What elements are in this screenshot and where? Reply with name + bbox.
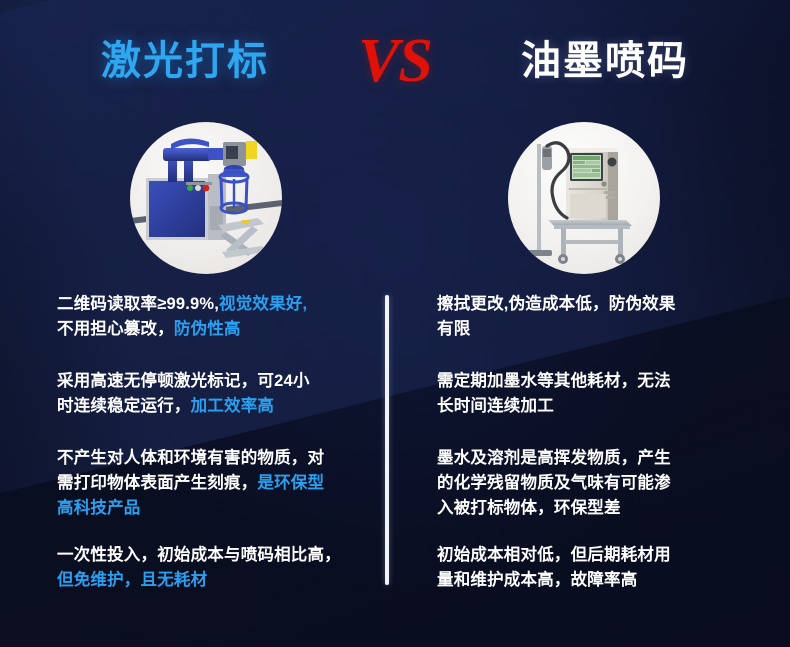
- feature-text-highlight: 视觉效果好,: [219, 295, 307, 313]
- feature-line: 不用担心篡改，防伪性高: [57, 317, 357, 342]
- inkjet-coding-machine-illustration: [508, 122, 660, 274]
- laser-marking-feature-list: 二维码读取率≥99.9%,视觉效果好, 不用担心篡改，防伪性高 采用高速无停顿激…: [57, 292, 357, 619]
- list-item: 初始成本相对低，但后期耗材用 量和维护成本高，故障率高: [437, 543, 737, 593]
- feature-text-plain: 不用担心篡改，: [57, 320, 174, 338]
- inkjet-coding-machine-photo: [508, 122, 660, 274]
- comparison-poster: 激光打标 VS 油墨喷码: [0, 0, 790, 647]
- list-item: 二维码读取率≥99.9%,视觉效果好, 不用担心篡改，防伪性高: [57, 292, 357, 342]
- feature-line: 采用高速无停顿激光标记，可24小: [57, 369, 357, 394]
- laser-marking-machine-illustration: [130, 122, 282, 274]
- left-title: 激光打标: [50, 41, 320, 81]
- inkjet-coding-feature-list: 擦拭更改,伪造成本低，防伪效果 有限 需定期加墨水等其他耗材，无法 长时间连续加…: [437, 292, 737, 619]
- laser-marking-machine-photo: [130, 122, 282, 274]
- feature-line: 需打印物体表面产生刻痕，是环保型: [57, 471, 357, 496]
- feature-text-plain: 一次性投入，初始成本与喷码相比高，: [57, 546, 341, 564]
- feature-text-highlight: 是环保型: [257, 474, 324, 492]
- feature-line: 二维码读取率≥99.9%,视觉效果好,: [57, 292, 357, 317]
- feature-line: 初始成本相对低，但后期耗材用: [437, 543, 737, 568]
- feature-text-plain: 时连续稳定运行，: [57, 397, 191, 415]
- feature-text-highlight: 高科技产品: [57, 499, 141, 517]
- column-divider: [385, 295, 389, 585]
- feature-text-plain: 不产生对人体和环境有害的物质，对: [57, 449, 324, 467]
- list-item: 墨水及溶剂是高挥发物质，产生 的化学残留物质及气味有可能渗 入被打标物体，环保型…: [437, 446, 737, 521]
- feature-line: 墨水及溶剂是高挥发物质，产生: [437, 446, 737, 471]
- feature-text-plain: 二维码读取率≥99.9%,: [57, 295, 219, 313]
- feature-text-highlight: 防伪性高: [174, 320, 241, 338]
- feature-text-plain: 采用高速无停顿激光标记，可24小: [57, 372, 310, 390]
- feature-text-plain: 需打印物体表面产生刻痕，: [57, 474, 257, 492]
- feature-line: 入被打标物体，环保型差: [437, 496, 737, 521]
- feature-line: 需定期加墨水等其他耗材，无法: [437, 369, 737, 394]
- feature-line: 时连续稳定运行，加工效率高: [57, 394, 357, 419]
- feature-text-highlight: 加工效率高: [191, 397, 275, 415]
- feature-line: 一次性投入，初始成本与喷码相比高，: [57, 543, 357, 568]
- right-title: 油墨喷码: [470, 41, 740, 81]
- feature-line: 擦拭更改,伪造成本低，防伪效果: [437, 292, 737, 317]
- list-item: 不产生对人体和环境有害的物质，对 需打印物体表面产生刻痕，是环保型 高科技产品: [57, 446, 357, 521]
- list-item: 一次性投入，初始成本与喷码相比高， 但免维护，且无耗材: [57, 543, 357, 593]
- feature-line: 长时间连续加工: [437, 394, 737, 419]
- feature-line: 但免维护，且无耗材: [57, 568, 357, 593]
- feature-line: 的化学残留物质及气味有可能渗: [437, 471, 737, 496]
- feature-line: 不产生对人体和环境有害的物质，对: [57, 446, 357, 471]
- list-item: 擦拭更改,伪造成本低，防伪效果 有限: [437, 292, 737, 342]
- vs-label: VS: [320, 30, 470, 92]
- list-item: 采用高速无停顿激光标记，可24小 时连续稳定运行，加工效率高: [57, 369, 357, 419]
- list-item: 需定期加墨水等其他耗材，无法 长时间连续加工: [437, 369, 737, 419]
- feature-line: 有限: [437, 317, 737, 342]
- poster-header: 激光打标 VS 油墨喷码: [0, 18, 790, 104]
- feature-text-highlight: 但免维护，且无耗材: [57, 571, 207, 589]
- feature-line: 高科技产品: [57, 496, 357, 521]
- feature-line: 量和维护成本高，故障率高: [437, 568, 737, 593]
